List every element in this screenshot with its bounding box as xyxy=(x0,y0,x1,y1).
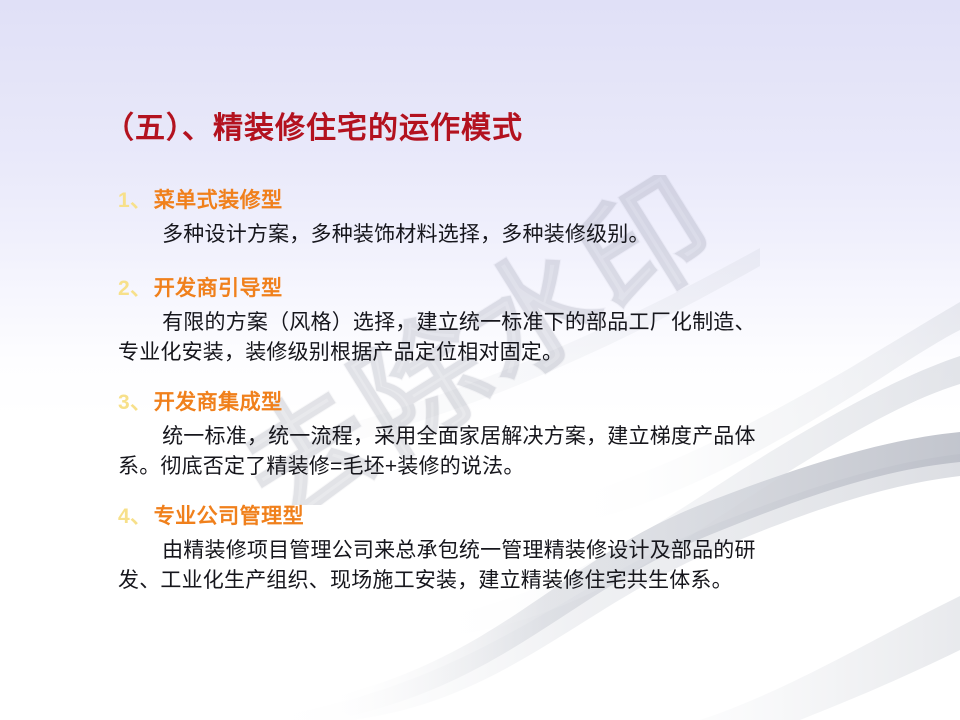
section-3-body-line-1: 统一标准，统一流程，采用全面家居解决方案，建立梯度产品体 xyxy=(118,422,908,452)
section-3-body-line-2: 系。彻底否定了精装修=毛坯+装修的说法。 xyxy=(118,452,908,482)
section-3-heading: 3、开发商集成型 xyxy=(118,390,908,416)
section-2-heading: 2、开发商引导型 xyxy=(118,276,908,302)
section-4-number: 4、 xyxy=(118,505,152,528)
section-2: 2、开发商引导型 有限的方案（风格）选择，建立统一标准下的部品工厂化制造、 专业… xyxy=(118,276,908,368)
section-1-heading-label: 菜单式装修型 xyxy=(154,189,283,212)
page-title: （五）、精装修住宅的运作模式 xyxy=(104,103,523,147)
section-4: 4、专业公司管理型 由精装修项目管理公司来总承包统一管理精装修设计及部品的研 发… xyxy=(118,504,908,596)
section-1: 1、菜单式装修型 多种设计方案，多种装饰材料选择，多种装修级别。 xyxy=(118,188,908,250)
section-1-number: 1、 xyxy=(118,189,152,212)
presentation-slide: 去除水印 （五）、精装修住宅的运作模式 1、菜单式装修型 多种设计方案，多种装饰… xyxy=(0,0,960,720)
section-4-body-line-1: 由精装修项目管理公司来总承包统一管理精装修设计及部品的研 xyxy=(118,536,908,566)
section-2-body-line-1: 有限的方案（风格）选择，建立统一标准下的部品工厂化制造、 xyxy=(118,308,908,338)
section-3-heading-label: 开发商集成型 xyxy=(154,391,283,414)
section-3-number: 3、 xyxy=(118,391,152,414)
section-2-body-line-2: 专业化安装，装修级别根据产品定位相对固定。 xyxy=(118,338,908,368)
section-4-heading-label: 专业公司管理型 xyxy=(154,505,305,528)
section-4-body-line-2: 发、工业化生产组织、现场施工安装，建立精装修住宅共生体系。 xyxy=(118,566,908,596)
section-1-heading: 1、菜单式装修型 xyxy=(118,188,908,214)
section-4-heading: 4、专业公司管理型 xyxy=(118,504,908,530)
section-3: 3、开发商集成型 统一标准，统一流程，采用全面家居解决方案，建立梯度产品体 系。… xyxy=(118,390,908,482)
section-2-heading-label: 开发商引导型 xyxy=(154,277,283,300)
section-1-body-line-1: 多种设计方案，多种装饰材料选择，多种装修级别。 xyxy=(118,220,908,250)
section-2-number: 2、 xyxy=(118,277,152,300)
